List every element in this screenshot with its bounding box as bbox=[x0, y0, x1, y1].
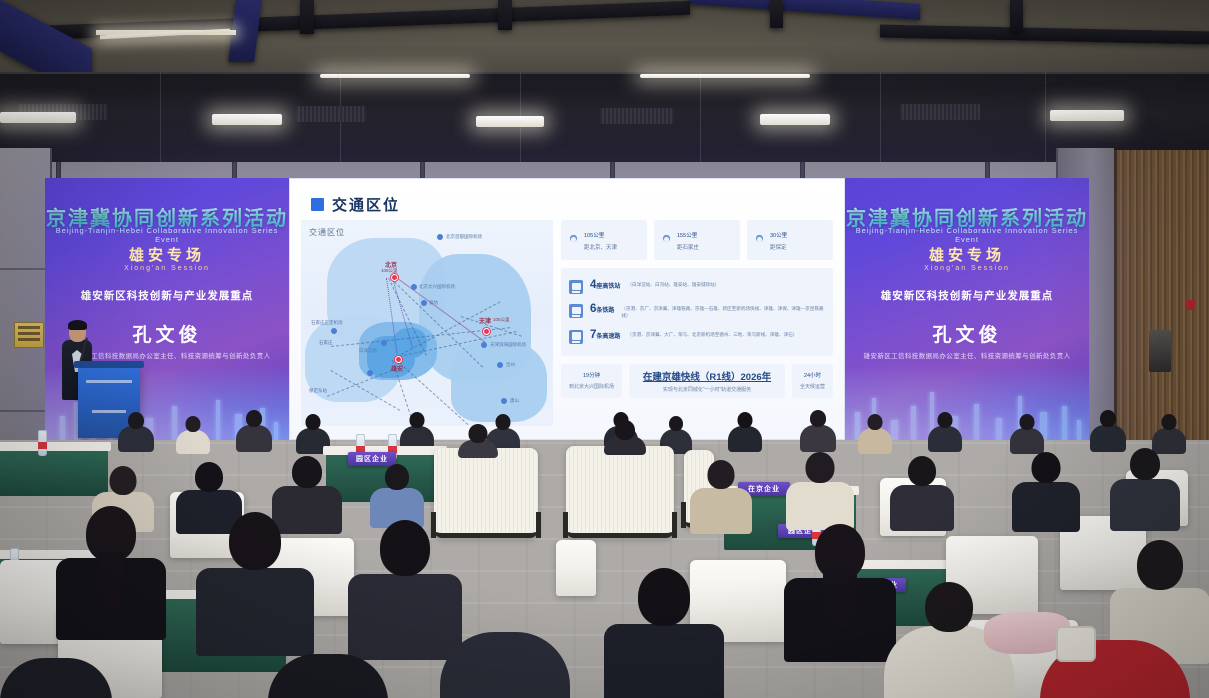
bottom-caption: 到北京大兴国际机场 bbox=[569, 383, 614, 390]
person-head bbox=[938, 412, 953, 428]
table-top bbox=[0, 442, 111, 451]
person-body bbox=[236, 425, 272, 452]
emergency-notice-sign bbox=[14, 322, 44, 348]
audience-person bbox=[1090, 410, 1126, 452]
person-body bbox=[690, 488, 752, 534]
podium-text-line bbox=[86, 380, 132, 383]
audience-person bbox=[786, 452, 854, 528]
distance-unit: 公里 bbox=[686, 233, 697, 239]
handbag bbox=[1056, 626, 1096, 662]
location-pin-icon bbox=[568, 233, 579, 247]
person-head bbox=[806, 452, 835, 483]
person-head bbox=[669, 416, 683, 431]
person-head bbox=[615, 420, 635, 440]
audience-person bbox=[784, 524, 896, 658]
ceiling-panel-seam bbox=[1045, 72, 1046, 164]
person-body bbox=[728, 426, 762, 452]
map-poi-marker bbox=[411, 284, 417, 290]
map-poi-label: 唐山 bbox=[510, 398, 519, 404]
ceiling-light-fixture bbox=[476, 116, 544, 127]
slide-heading: 交通区位 bbox=[332, 194, 400, 215]
person-body bbox=[196, 568, 314, 656]
map-poi-marker bbox=[501, 398, 507, 404]
audience-person bbox=[1110, 448, 1180, 528]
bottom-card-highlight: 在建京雄快线（R1线）2026年 实现与北京同城化“一小时”轨道交通服务 bbox=[629, 364, 785, 398]
person-body bbox=[928, 426, 962, 452]
person-head bbox=[810, 410, 826, 427]
region-map: 交通区位 bbox=[301, 220, 553, 426]
podium-top bbox=[74, 361, 144, 368]
audience-person bbox=[236, 410, 272, 452]
bottom-unit: 分钟 bbox=[589, 373, 600, 379]
audience-person bbox=[268, 646, 388, 698]
facility-unit: 条高速路 bbox=[596, 334, 620, 340]
person-head bbox=[868, 414, 883, 430]
facility-unit: 座高铁站 bbox=[596, 284, 620, 290]
map-poi-marker bbox=[437, 234, 443, 240]
slide-info-column: 105公里 距北京、天津 155公里 距石家庄 bbox=[561, 220, 833, 398]
bottom-value: 在建京雄快线（R1线）2026年 bbox=[637, 369, 777, 383]
audience-person bbox=[604, 568, 724, 698]
facility-detail: （京港、京津冀、大广、荣乌、北京新机场至德州、三地、荣乌新线、津雄、津石） bbox=[627, 330, 797, 339]
distance-cards: 105公里 距北京、天津 155公里 距石家庄 bbox=[561, 220, 833, 260]
audience-person bbox=[0, 652, 112, 698]
speaker-hair bbox=[68, 320, 87, 330]
person-head bbox=[410, 412, 425, 428]
banner-topic: 雄安新区科技创新与产业发展重点 bbox=[845, 288, 1089, 303]
bottom-value: 19分钟 bbox=[569, 369, 614, 380]
slide-bottom-bar: 19分钟 到北京大兴国际机场 在建京雄快线（R1线）2026年 实现与北京同城化… bbox=[561, 364, 833, 398]
audience-person bbox=[728, 412, 762, 452]
audience-person bbox=[56, 506, 166, 636]
audience-person bbox=[440, 620, 570, 698]
high-speed-rail-icon bbox=[569, 280, 583, 294]
stack-chair bbox=[556, 540, 596, 596]
map-poi-label: 北京大兴国际机场 bbox=[419, 284, 455, 290]
led-banner-right: 京津冀协同创新系列活动 Beijing-Tianjin-Hebei Collab… bbox=[845, 178, 1089, 440]
distance-target: 距北京、天津 bbox=[584, 243, 617, 251]
ceiling-mesh-panel bbox=[296, 106, 366, 122]
stage-led-wall: 京津冀协同创新系列活动 Beijing-Tianjin-Hebei Collab… bbox=[45, 178, 1089, 440]
person-body bbox=[0, 658, 112, 698]
person-head bbox=[469, 424, 488, 443]
banner-speaker-name: 孔文俊 bbox=[845, 320, 1089, 347]
map-city-distance-beijing: 105公里 bbox=[381, 268, 398, 274]
map-poi-marker bbox=[381, 340, 387, 346]
person-head bbox=[385, 464, 409, 490]
person-head bbox=[292, 456, 322, 488]
distance-card: 30公里 距保定 bbox=[747, 220, 833, 260]
map-poi-label: 石家庄 bbox=[319, 340, 333, 346]
ceiling-beam bbox=[1010, 0, 1023, 32]
bottom-card: 19分钟 到北京大兴国际机场 bbox=[561, 364, 622, 398]
person-head bbox=[1020, 414, 1035, 430]
audience-person bbox=[604, 420, 646, 454]
bullet-square-icon bbox=[311, 198, 324, 211]
ceiling-mesh-panel bbox=[900, 104, 980, 120]
person-body bbox=[1012, 482, 1080, 532]
map-poi-label: 白洋淀站 bbox=[359, 348, 377, 354]
person-head bbox=[708, 460, 735, 489]
map-poi-marker bbox=[421, 300, 427, 306]
highway-icon bbox=[569, 330, 583, 344]
banner-title-en: Beijing-Tianjin-Hebei Collaborative Inno… bbox=[45, 226, 289, 244]
audience-person bbox=[690, 460, 752, 532]
audience-person bbox=[800, 410, 836, 452]
map-poi-marker bbox=[367, 370, 373, 376]
facility-count: 6条铁路 bbox=[590, 304, 614, 316]
map-poi-label: 廊坊 bbox=[429, 300, 438, 306]
banner-title-en: Beijing-Tianjin-Hebei Collaborative Inno… bbox=[845, 226, 1089, 244]
person-head bbox=[638, 568, 690, 626]
audience-person bbox=[196, 512, 314, 652]
person-head bbox=[925, 582, 973, 632]
distance-value: 105公里 bbox=[584, 229, 617, 241]
facility-list: 4座高铁站 （白洋淀站、白沟站、雄安站、雄安城际站） 6条铁路 （京港、京广、京… bbox=[561, 268, 833, 356]
person-head bbox=[195, 462, 223, 492]
map-corner-label: 交通区位 bbox=[309, 227, 345, 238]
person-body bbox=[858, 428, 892, 454]
facility-count: 4座高铁站 bbox=[590, 280, 620, 292]
person-body bbox=[118, 426, 154, 452]
bottom-unit: 小时 bbox=[810, 373, 821, 379]
audience-person bbox=[118, 412, 154, 452]
location-pin-icon bbox=[754, 233, 765, 247]
banner-session-cn: 雄安专场 bbox=[45, 244, 289, 265]
ceiling-light-fixture bbox=[640, 74, 810, 78]
facility-unit: 条铁路 bbox=[596, 308, 614, 314]
water-bottle bbox=[38, 430, 47, 456]
bottom-card: 24小时 全天候运营 bbox=[792, 364, 833, 398]
audience-person bbox=[858, 414, 892, 454]
map-city-marker-beijing bbox=[391, 274, 398, 281]
armchair bbox=[566, 446, 674, 538]
conference-photo: 京津冀协同创新系列活动 Beijing-Tianjin-Hebei Collab… bbox=[0, 0, 1209, 698]
person-head bbox=[1130, 448, 1160, 480]
person-body bbox=[786, 482, 854, 530]
map-city-marker-xiongan bbox=[395, 356, 402, 363]
audience-person bbox=[176, 416, 210, 454]
ceiling-light-fixture bbox=[212, 114, 282, 125]
facility-detail: （京港、京广、京津冀、津雄铁路、京雄—石雄、新区至新机场快线、津雄、津保、津雄—… bbox=[621, 304, 825, 320]
map-poi-marker bbox=[331, 328, 337, 334]
person-head bbox=[1032, 452, 1061, 483]
slide-heading-group: 交通区位 bbox=[311, 194, 400, 215]
map-poi-label: 保定东站 bbox=[309, 388, 327, 394]
banner-topic: 雄安新区科技创新与产业发展重点 bbox=[45, 288, 289, 303]
fire-alarm-icon bbox=[1185, 300, 1195, 310]
person-body bbox=[176, 430, 210, 454]
distance-unit: 公里 bbox=[776, 233, 787, 239]
ceiling-beam bbox=[300, 0, 314, 34]
banner-session-en: Xiong'an Session bbox=[45, 265, 289, 272]
map-landmass bbox=[451, 340, 547, 422]
facility-detail: （白洋淀站、白沟站、雄安站、雄安城际站） bbox=[627, 280, 719, 289]
person-head bbox=[1100, 410, 1116, 427]
person-head bbox=[110, 466, 137, 495]
presentation-slide: 交通区位 交通区位 bbox=[289, 178, 845, 440]
audience-person bbox=[458, 424, 498, 456]
distance-target: 距石家庄 bbox=[677, 243, 699, 251]
person-head bbox=[306, 414, 321, 430]
wall-fixture bbox=[1149, 330, 1171, 372]
ceiling-light-fixture bbox=[0, 112, 76, 123]
person-head bbox=[1162, 414, 1177, 430]
bottom-caption: 实现与北京同城化“一小时”轨道交通服务 bbox=[637, 386, 777, 393]
person-hair bbox=[823, 568, 857, 630]
person-head bbox=[229, 512, 281, 570]
person-body bbox=[890, 485, 954, 531]
distance-value: 155公里 bbox=[677, 229, 699, 241]
ceiling-panel-seam bbox=[160, 72, 161, 164]
map-poi-label: 天津滨海国际机场 bbox=[490, 342, 526, 348]
ceiling-panel-seam bbox=[880, 72, 881, 164]
audience-person bbox=[928, 412, 962, 452]
ceiling-light-fixture bbox=[320, 74, 470, 78]
person-head bbox=[380, 520, 430, 576]
facility-count: 7条高速路 bbox=[590, 330, 620, 342]
distance-value: 30公里 bbox=[770, 229, 787, 241]
ceiling-panel-seam bbox=[700, 72, 701, 164]
person-body bbox=[604, 624, 724, 698]
person-head bbox=[738, 412, 753, 428]
person-head bbox=[128, 412, 144, 429]
ceiling-mesh-panel bbox=[600, 108, 674, 124]
map-city-distance-tianjin: 105公里 bbox=[493, 317, 510, 323]
person-body bbox=[268, 654, 388, 698]
map-poi-marker bbox=[481, 342, 487, 348]
ceiling-beam bbox=[770, 0, 783, 28]
banner-session-cn: 雄安专场 bbox=[845, 244, 1089, 265]
bottom-value: 24小时 bbox=[800, 369, 825, 380]
map-poi-marker bbox=[497, 362, 503, 368]
ceiling-light-fixture bbox=[760, 114, 830, 125]
banner-speaker-role: 雄安新区工信科技数据局办公室主任、科技资源统筹与创新处负责人 bbox=[845, 350, 1089, 360]
person-head bbox=[186, 416, 201, 432]
map-poi-label: 沧州 bbox=[506, 362, 515, 368]
distance-unit: 公里 bbox=[593, 233, 604, 239]
distance-number: 155 bbox=[677, 233, 686, 239]
railway-icon bbox=[569, 304, 583, 318]
distance-number: 105 bbox=[584, 233, 593, 239]
map-poi-label: 石家庄正定机场 bbox=[311, 320, 343, 326]
person-head bbox=[908, 456, 936, 486]
list-item: 7条高速路 （京港、京津冀、大广、荣乌、北京新机场至德州、三地、荣乌新线、津雄、… bbox=[569, 325, 825, 349]
banner-session-en: Xiong'an Session bbox=[845, 265, 1089, 272]
person-head bbox=[1137, 540, 1183, 590]
person-body bbox=[1110, 479, 1180, 531]
audience-person bbox=[1012, 452, 1080, 530]
ceiling-beam bbox=[498, 0, 512, 30]
audience-person bbox=[370, 464, 424, 526]
audience-person bbox=[890, 456, 954, 530]
map-poi-label: 北京首都国际机场 bbox=[446, 234, 482, 240]
ceiling-light-fixture bbox=[1050, 110, 1124, 121]
person-body bbox=[440, 632, 570, 698]
distance-card: 155公里 距石家庄 bbox=[654, 220, 740, 260]
list-item: 6条铁路 （京港、京广、京津冀、津雄铁路、京雄—石雄、新区至新机场快线、津雄、津… bbox=[569, 299, 825, 325]
person-body bbox=[800, 425, 836, 452]
location-pin-icon bbox=[661, 233, 672, 247]
map-city-label-tianjin: 天津 bbox=[479, 316, 491, 325]
person-body bbox=[1010, 428, 1044, 454]
list-item: 4座高铁站 （白洋淀站、白沟站、雄安站、雄安城际站） bbox=[569, 275, 825, 299]
map-city-marker-tianjin bbox=[483, 328, 490, 335]
distance-target: 距保定 bbox=[770, 243, 787, 251]
distance-card: 105公里 距北京、天津 bbox=[561, 220, 647, 260]
audience-person bbox=[1010, 414, 1044, 454]
person-hair bbox=[98, 552, 124, 608]
bottom-caption: 全天候运营 bbox=[800, 383, 825, 390]
person-head bbox=[246, 410, 262, 427]
map-city-label-xiongan: 雄安 bbox=[391, 364, 403, 373]
